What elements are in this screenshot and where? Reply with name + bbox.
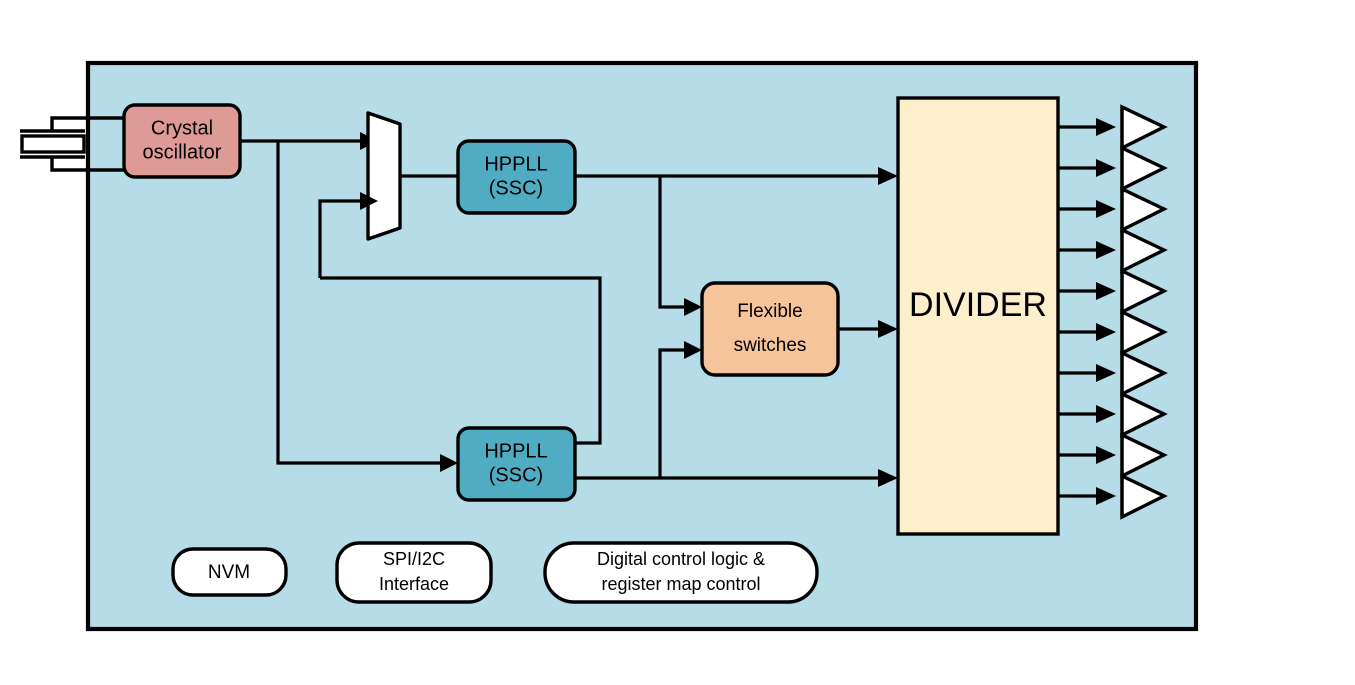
- spi-i2c-interface-label-line2: Interface: [379, 574, 449, 594]
- hppll-top-label-line2: (SSC): [489, 177, 543, 199]
- digital-control-label-line1: Digital control logic &: [597, 549, 765, 569]
- nvm-label: NVM: [208, 562, 250, 583]
- block-diagram-canvas: Crystal oscillator HPPLL (SSC) HPPLL (SS…: [0, 0, 1355, 685]
- flexible-switches-label-line1: Flexible: [737, 301, 802, 322]
- clock-generator-diagram: Crystal oscillator HPPLL (SSC) HPPLL (SS…: [0, 0, 1355, 685]
- hppll-bottom-label-line2: (SSC): [489, 464, 543, 486]
- hppll-bottom-label-line1: HPPLL: [484, 440, 547, 462]
- flexible-switches-label-line2: switches: [734, 335, 807, 356]
- crystal-oscillator-label-line2: oscillator: [143, 141, 222, 163]
- crystal-oscillator-label-line1: Crystal: [151, 117, 213, 139]
- input-mux[interactable]: [368, 113, 400, 239]
- divider-label: DIVIDER: [909, 286, 1047, 324]
- flexible-switches-block[interactable]: [702, 283, 838, 375]
- hppll-top-label-line1: HPPLL: [484, 153, 547, 175]
- spi-i2c-interface-label-line1: SPI/I2C: [383, 549, 445, 569]
- digital-control-label-line2: register map control: [601, 574, 760, 594]
